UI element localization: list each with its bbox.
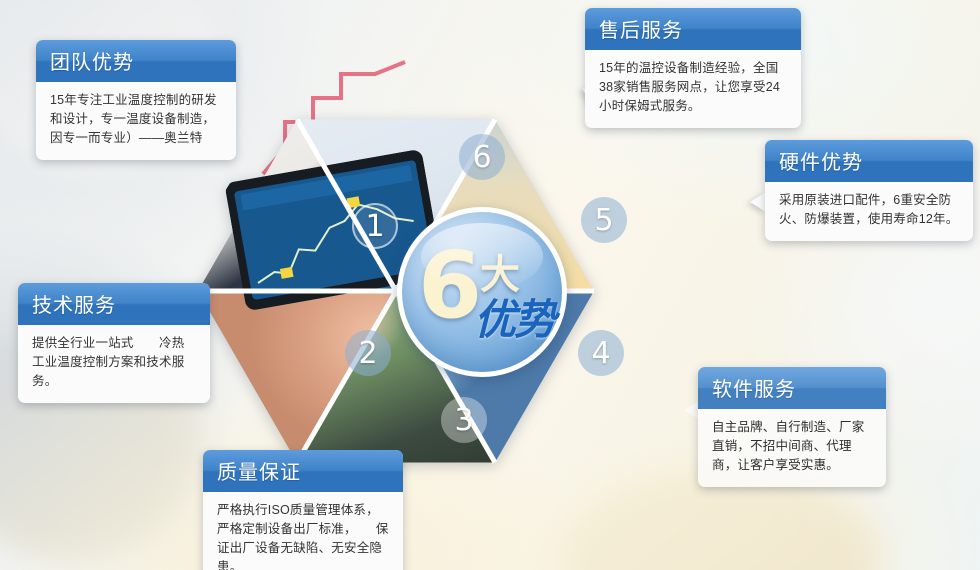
badge-6[interactable]: 6: [459, 134, 505, 180]
callout-software-body: 自主品牌、自行制造、厂家直销，不招中间商、代理商，让客户享受实惠。: [698, 409, 886, 487]
callout-team-title: 团队优势: [36, 40, 236, 82]
center-subtitle: 优势: [474, 286, 554, 347]
callout-after-sales-title: 售后服务: [585, 8, 801, 50]
badge-5[interactable]: 5: [581, 197, 627, 243]
callout-hardware-body: 采用原装进口配件，6重安全防火、防爆装置，使用寿命12年。: [765, 182, 973, 241]
callout-tech-title: 技术服务: [18, 283, 210, 325]
callout-tail-hardware: [750, 192, 766, 212]
callout-quality[interactable]: 质量保证 严格执行ISO质量管理体系，严格定制设备出厂标准， 保证出厂设备无缺陷…: [203, 450, 403, 570]
infographic-canvas: 6 大 优势 1 2 3 4 5 6 团队优势 15年专注工业温度控制的研发和设…: [0, 0, 980, 570]
callout-tech-service[interactable]: 技术服务 提供全行业一站式 冷热工业温度控制方案和技术服务。: [18, 283, 210, 403]
callout-hardware[interactable]: 硬件优势 采用原装进口配件，6重安全防火、防爆装置，使用寿命12年。: [765, 140, 973, 241]
badge-1-label: 1: [365, 209, 384, 244]
callout-hardware-title: 硬件优势: [765, 140, 973, 182]
callout-software-title: 软件服务: [698, 367, 886, 409]
callout-team-body: 15年专注工业温度控制的研发和设计，专一温度设备制造，因专一而专业）——奥兰特: [36, 82, 236, 160]
callout-after-sales[interactable]: 售后服务 15年的温控设备制造经验，全国38家销售服务网点，让您享受24小时保姆…: [585, 8, 801, 128]
badge-2[interactable]: 2: [345, 330, 391, 376]
callout-quality-body: 严格执行ISO质量管理体系，严格定制设备出厂标准， 保证出厂设备无缺陷、无安全隐…: [203, 492, 403, 570]
callout-quality-title: 质量保证: [203, 450, 403, 492]
callout-software[interactable]: 软件服务 自主品牌、自行制造、厂家直销，不招中间商、代理商，让客户享受实惠。: [698, 367, 886, 487]
center-badge: 6 大 优势: [397, 207, 567, 377]
badge-2-label: 2: [358, 336, 377, 371]
badge-4-label: 4: [591, 336, 610, 371]
badge-3[interactable]: 3: [441, 397, 487, 443]
callout-team[interactable]: 团队优势 15年专注工业温度控制的研发和设计，专一温度设备制造，因专一而专业）—…: [36, 40, 236, 160]
callout-after-sales-body: 15年的温控设备制造经验，全国38家销售服务网点，让您享受24小时保姆式服务。: [585, 50, 801, 128]
badge-3-label: 3: [454, 403, 473, 438]
callout-tech-body: 提供全行业一站式 冷热工业温度控制方案和技术服务。: [18, 325, 210, 403]
center-number: 6: [418, 240, 482, 332]
badge-6-label: 6: [472, 140, 491, 175]
badge-1[interactable]: 1: [352, 203, 398, 249]
badge-4[interactable]: 4: [578, 330, 624, 376]
badge-5-label: 5: [594, 203, 613, 238]
wheel-divider-2: [198, 289, 396, 294]
